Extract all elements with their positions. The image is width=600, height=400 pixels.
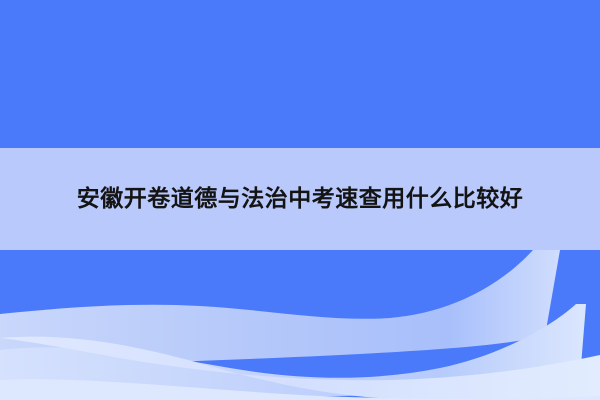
page-title: 安徽开卷道德与法治中考速查用什么比较好 [77, 188, 524, 211]
title-band: 安徽开卷道德与法治中考速查用什么比较好 [0, 148, 600, 250]
wave-graphic-svg [0, 250, 600, 400]
wave-decoration [0, 250, 600, 400]
top-blue-area [0, 0, 600, 148]
banner-image: 安徽开卷道德与法治中考速查用什么比较好 [0, 0, 600, 400]
